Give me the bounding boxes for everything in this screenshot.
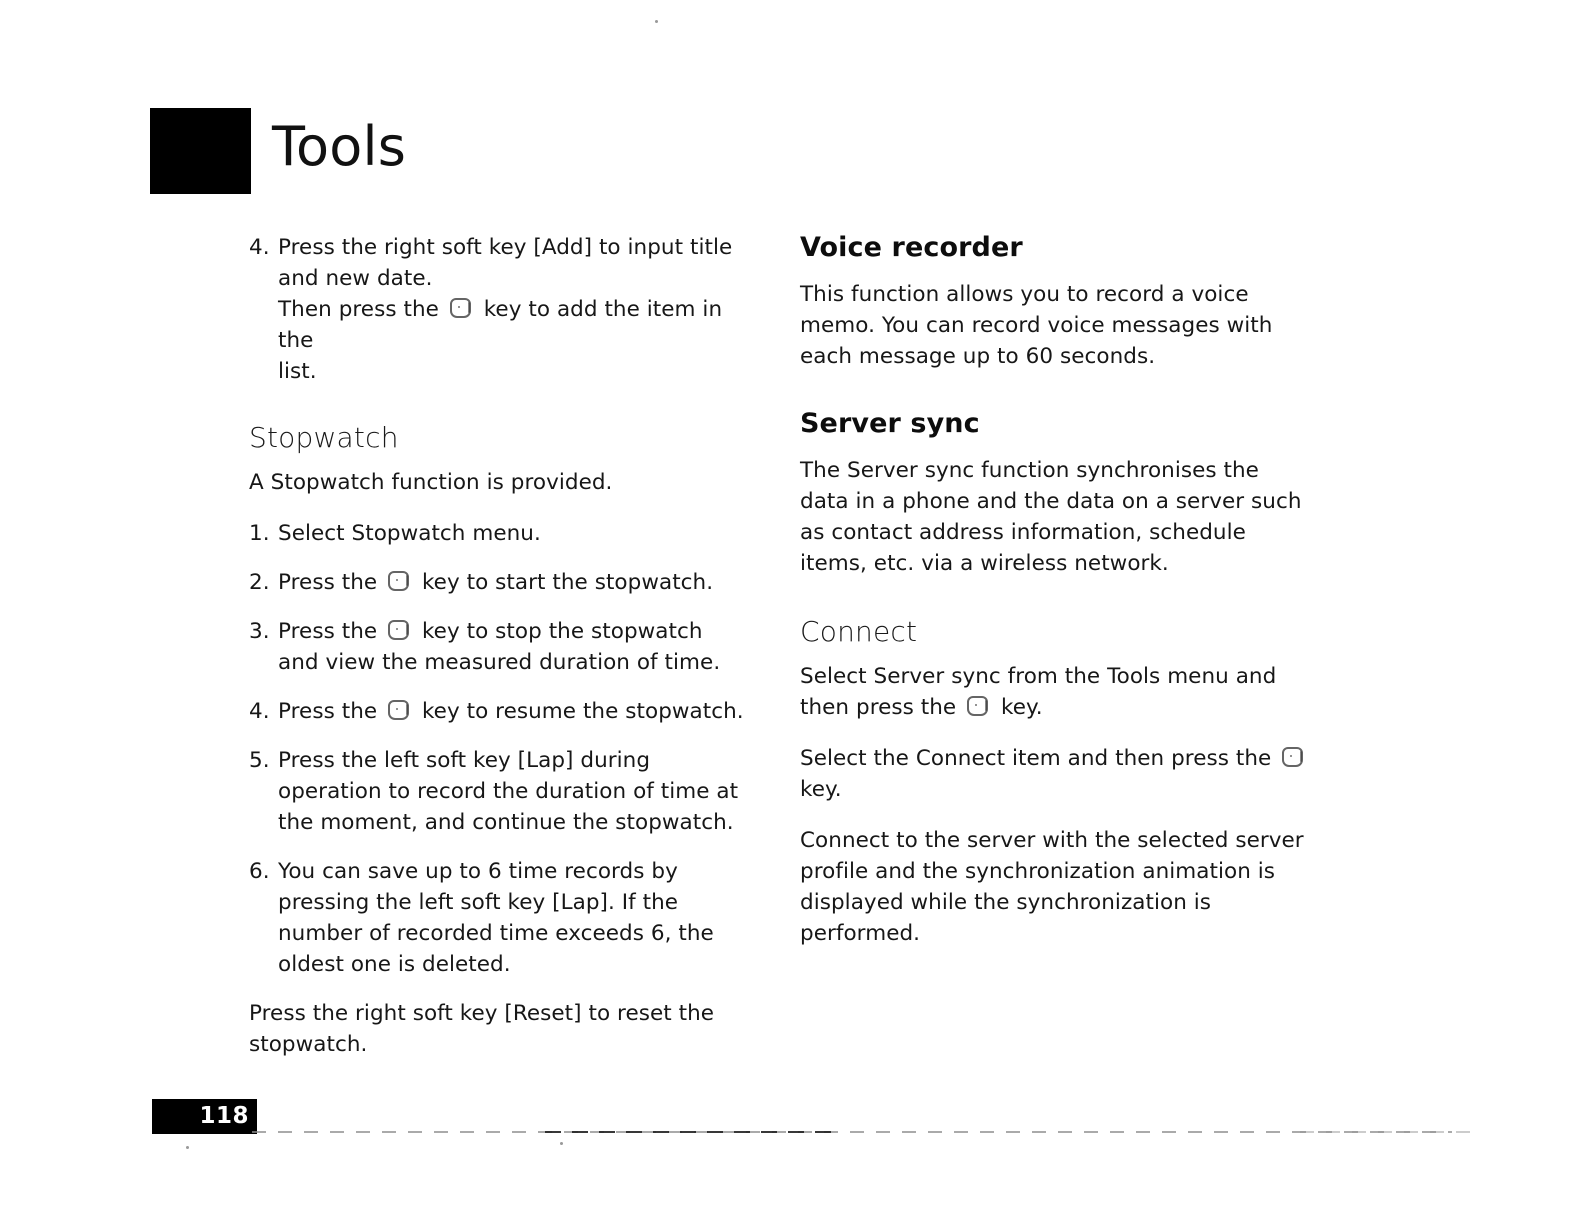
scan-speck	[560, 1142, 563, 1145]
ok-key-icon-dot	[458, 306, 460, 308]
ok-key-icon-tick	[406, 575, 408, 586]
step4-line3: Then press the key to add the item in th…	[278, 294, 749, 356]
ok-key-icon-tick	[985, 700, 987, 711]
step-text-after: key to start the stopwatch.	[422, 570, 713, 595]
manual-page: Tools 4. Press the right soft key [Add] …	[0, 0, 1578, 1221]
list-item: 6. You can save up to 6 time records by …	[249, 856, 749, 980]
list-item-number: 5.	[249, 745, 278, 838]
voice-recorder-heading: Voice recorder	[800, 232, 1310, 265]
step4-line2: and new date.	[278, 263, 749, 294]
list-item-text: Press the key to resume the stopwatch.	[278, 696, 749, 727]
ok-key-icon	[449, 298, 474, 320]
right-column: Voice recorder This function allows you …	[800, 232, 1310, 969]
section-spacer	[800, 392, 1310, 408]
ok-key-icon-dot	[396, 708, 398, 710]
step-text-before: Press the	[278, 619, 377, 644]
list-item: 1. Select Stopwatch menu.	[249, 518, 749, 549]
list-item: 5. Press the left soft key [Lap] during …	[249, 745, 749, 838]
list-item: 4. Press the right soft key [Add] to inp…	[249, 232, 749, 387]
step4-line3-before: Then press the	[278, 297, 439, 322]
ok-key-icon	[966, 696, 991, 718]
ok-key-icon-dot	[975, 704, 977, 706]
connect-paragraph-1: Select Server sync from the Tools menu a…	[800, 661, 1310, 723]
server-sync-heading: Server sync	[800, 408, 1310, 441]
ok-key-icon-dot	[1290, 755, 1292, 757]
stopwatch-step-list: 1. Select Stopwatch menu. 2. Press the k…	[249, 518, 749, 980]
ok-key-icon-dot	[396, 628, 398, 630]
ok-key-icon-tick	[1300, 751, 1302, 762]
list-item-number: 4.	[249, 696, 278, 727]
connect-paragraph-2: Select the Connect item and then press t…	[800, 743, 1310, 805]
list-item-text: Press the key to stop the stopwatch and …	[278, 616, 749, 678]
list-item-text: Press the key to start the stopwatch.	[278, 567, 749, 598]
step-text-before: Press the	[278, 699, 377, 724]
list-item: 3. Press the key to stop the stopwatch a…	[249, 616, 749, 678]
ok-key-icon	[387, 620, 412, 642]
server-sync-body: The Server sync function synchronises th…	[800, 455, 1310, 579]
connect-p1-after: key.	[1001, 695, 1043, 720]
ok-key-icon	[387, 700, 412, 722]
ok-key-icon	[1281, 747, 1306, 769]
scan-artifact-rule	[252, 1131, 1452, 1133]
list-item-number: 4.	[249, 232, 278, 387]
step-text-after: key to resume the stopwatch.	[422, 699, 744, 724]
section-spacer	[800, 599, 1310, 615]
section-spacer	[249, 405, 749, 421]
stopwatch-heading: Stopwatch	[249, 421, 749, 455]
connect-paragraph-3: Connect to the server with the selected …	[800, 825, 1310, 949]
scan-artifact-rule-dark	[545, 1131, 835, 1133]
list-item-text: Select Stopwatch menu.	[278, 518, 749, 549]
list-item: 4. Press the key to resume the stopwatch…	[249, 696, 749, 727]
scan-speck	[655, 20, 658, 23]
page-header: Tools	[150, 102, 850, 197]
voice-recorder-body: This function allows you to record a voi…	[800, 279, 1310, 372]
list-item: 2. Press the key to start the stopwatch.	[249, 567, 749, 598]
page-number-badge: 118	[152, 1099, 257, 1134]
connect-heading: Connect	[800, 615, 1310, 649]
step-text-before: Press the	[278, 570, 377, 595]
connect-p2-after: key.	[800, 777, 842, 802]
list-item-number: 2.	[249, 567, 278, 598]
ok-key-icon-tick	[406, 624, 408, 635]
connect-p2-before: Select the Connect item and then press t…	[800, 746, 1271, 771]
step4-line1: Press the right soft key [Add] to input …	[278, 235, 732, 260]
left-column: 4. Press the right soft key [Add] to inp…	[249, 232, 749, 1080]
ok-key-icon	[387, 571, 412, 593]
list-item-number: 6.	[249, 856, 278, 980]
scan-speck	[186, 1146, 189, 1149]
list-item-text: You can save up to 6 time records by pre…	[278, 856, 749, 980]
page-title: Tools	[272, 102, 406, 192]
ok-key-icon-tick	[406, 704, 408, 715]
list-item-number: 1.	[249, 518, 278, 549]
scan-artifact-rule-faint	[1300, 1131, 1470, 1133]
list-item-text: Press the left soft key [Lap] during ope…	[278, 745, 749, 838]
ok-key-icon-dot	[396, 579, 398, 581]
stopwatch-intro: A Stopwatch function is provided.	[249, 467, 749, 498]
chapter-marker-block	[150, 108, 251, 194]
stopwatch-reset-paragraph: Press the right soft key [Reset] to rese…	[249, 998, 749, 1060]
ok-key-icon-tick	[468, 302, 470, 313]
list-item-text: Press the right soft key [Add] to input …	[278, 232, 749, 387]
step4-line4: list.	[278, 356, 749, 387]
page-number: 118	[199, 1099, 249, 1134]
list-item-number: 3.	[249, 616, 278, 678]
